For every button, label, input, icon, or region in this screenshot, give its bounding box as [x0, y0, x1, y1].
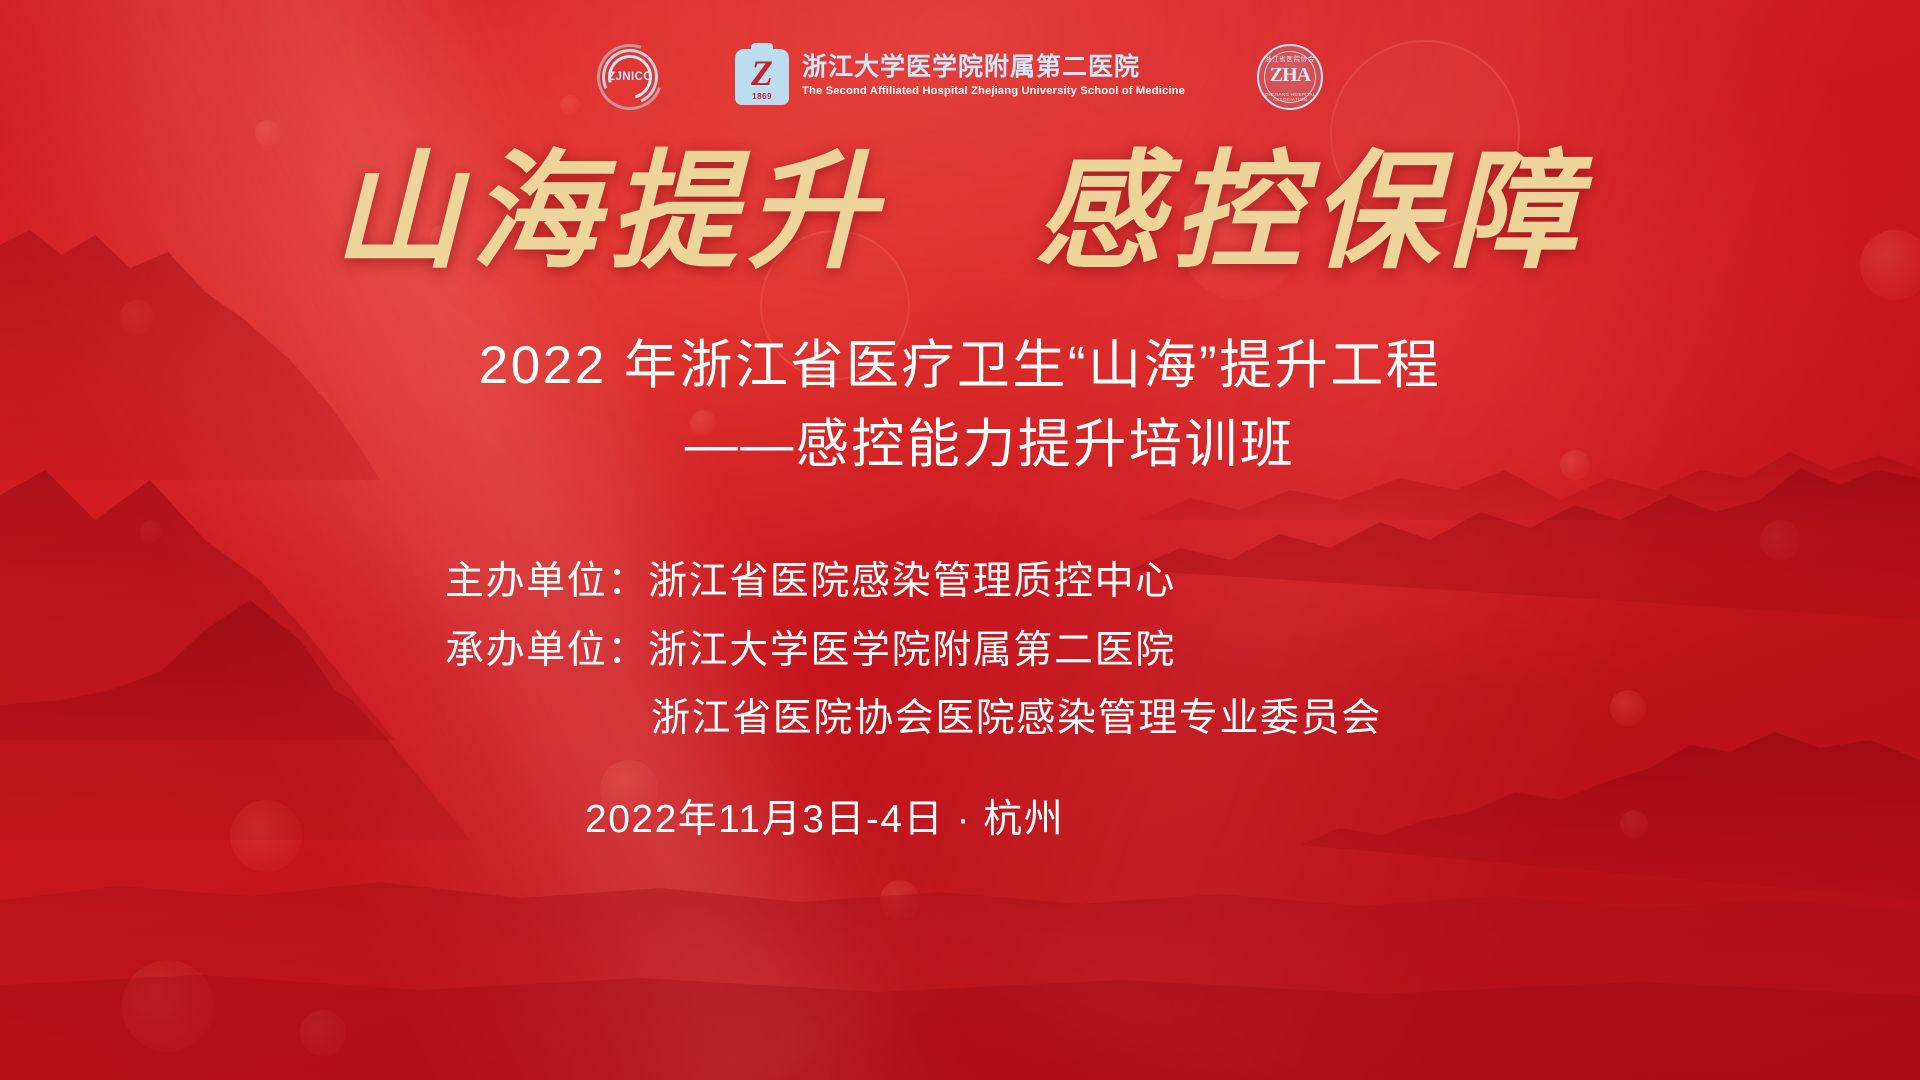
calligraphy-headline: 山海提升 感控保障 [0, 148, 1920, 279]
event-subtitle: 2022 年浙江省医疗卫生“山海”提升工程 ——感控能力提升培训班 [0, 332, 1920, 480]
hospital-name-en: The Second Affiliated Hospital Zhejiang … [802, 83, 1185, 100]
bokeh-circle [122, 960, 214, 1052]
bokeh-circle [300, 1010, 346, 1056]
organizer-coorganizer: 承办单位：浙江大学医学院附属第二医院 [445, 617, 1475, 686]
bokeh-circle [120, 300, 154, 334]
bokeh-circle [255, 120, 281, 146]
bokeh-circle [140, 520, 162, 542]
calligraphy-phrase-right: 感控保障 [1035, 148, 1587, 279]
header-logo-bar: ZJNICC Z 1869 浙江大学医学院附属第二医院 The Second A… [0, 44, 1920, 110]
hospital-name-group: 浙江大学医学院附属第二医院 The Second Affiliated Hosp… [802, 54, 1185, 100]
association-seal-icon: 浙江省医院协会 ZHA ZHEJIANG HOSPITAL ASSOCIATIO… [1257, 44, 1323, 110]
zhejiang-hospital-association-seal: 浙江省医院协会 ZHA ZHEJIANG HOSPITAL ASSOCIATIO… [1257, 44, 1323, 110]
hospital-mark-year: 1869 [735, 92, 789, 101]
seal-bottom-text: ZHEJIANG HOSPITAL ASSOCIATION [1259, 92, 1321, 102]
hospital-mark-icon: Z 1869 [735, 49, 789, 105]
calligraphy-phrase-left: 山海提升 [333, 148, 885, 279]
zjnicc-icon: ZJNICC [597, 44, 663, 110]
organizer-committee: 浙江省医院协会医院感染管理专业委员会 [445, 685, 1475, 754]
zjnicc-label: ZJNICC [597, 71, 663, 83]
organizer-host: 主办单位：浙江省医院感染管理质控中心 [445, 548, 1475, 617]
zju-second-hospital-logo: Z 1869 浙江大学医学院附属第二医院 The Second Affiliat… [735, 49, 1185, 105]
conference-poster: ZJNICC Z 1869 浙江大学医学院附属第二医院 The Second A… [0, 0, 1920, 1080]
bokeh-circle [880, 880, 920, 920]
event-datetime-location: 2022年11月3日-4日 · 杭州 [445, 788, 1475, 844]
subtitle-line-2: ——感控能力提升培训班 [0, 411, 1920, 480]
organizer-lines: 主办单位：浙江省医院感染管理质控中心 承办单位：浙江大学医学院附属第二医院 浙江… [445, 548, 1475, 844]
zjnicc-logo: ZJNICC [597, 44, 663, 110]
organizer-block: 主办单位：浙江省医院感染管理质控中心 承办单位：浙江大学医学院附属第二医院 浙江… [0, 548, 1920, 844]
subtitle-line-1: 2022 年浙江省医疗卫生“山海”提升工程 [0, 332, 1920, 401]
hospital-name-cn: 浙江大学医学院附属第二医院 [802, 54, 1185, 81]
